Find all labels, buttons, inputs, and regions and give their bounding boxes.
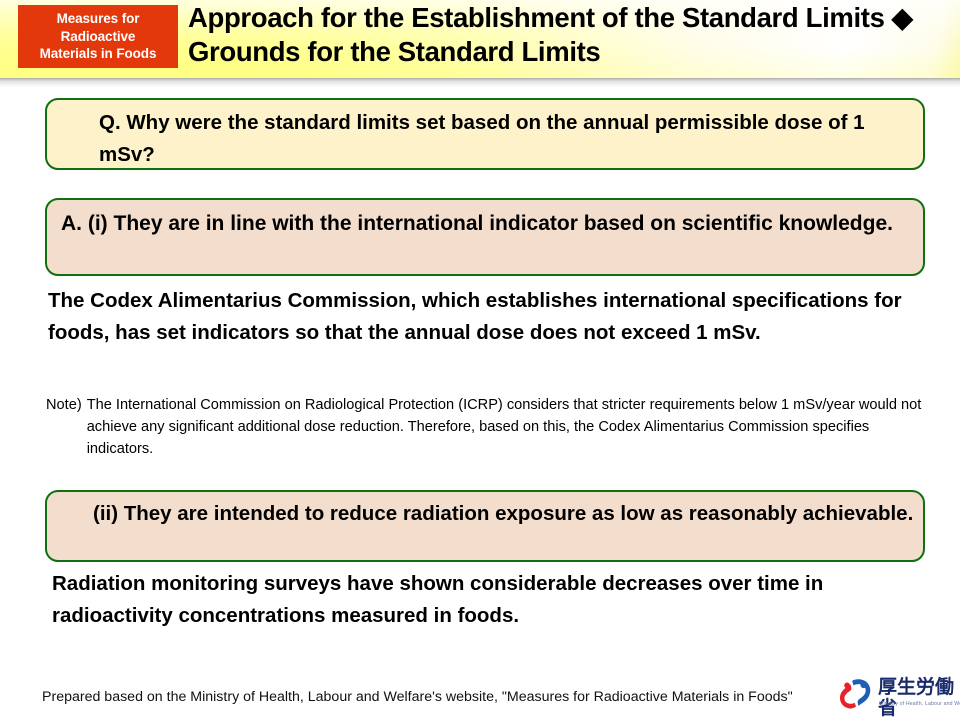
source-attribution: Prepared based on the Ministry of Health… [42, 688, 793, 706]
codex-paragraph: The Codex Alimentarius Commission, which… [48, 285, 938, 350]
answer-one-callout-box: A. (i) They are in line with the interna… [45, 198, 925, 276]
note-text: The International Commission on Radiolog… [87, 394, 936, 461]
note-label: Note) [46, 394, 87, 416]
answer-two-text: (ii) They are intended to reduce radiati… [93, 498, 913, 530]
question-text: Q. Why were the standard limits set base… [63, 107, 923, 171]
mhlw-logo-japanese-name: 厚生労働省 [878, 678, 954, 720]
answer-one-text: A. (i) They are in line with the interna… [61, 208, 893, 240]
mhlw-logo-mark-icon [838, 677, 874, 711]
mhlw-logo-english-name: Ministry of Health, Labour and Welfare [879, 701, 960, 707]
answer-two-callout-box: (ii) They are intended to reduce radiati… [45, 490, 925, 562]
note-block: Note) The International Commission on Ra… [46, 394, 936, 461]
slide-header: Measures for Radioactive Materials in Fo… [0, 0, 960, 78]
category-badge: Measures for Radioactive Materials in Fo… [18, 5, 178, 68]
page-title: Approach for the Establishment of the St… [188, 1, 950, 70]
monitoring-paragraph: Radiation monitoring surveys have shown … [52, 568, 942, 633]
category-badge-label: Measures for Radioactive Materials in Fo… [40, 10, 157, 63]
mhlw-logo: 厚生労働省 Ministry of Health, Labour and Wel… [838, 676, 954, 716]
question-callout-box: Q. Why were the standard limits set base… [45, 98, 925, 170]
header-drop-shadow [0, 78, 960, 87]
